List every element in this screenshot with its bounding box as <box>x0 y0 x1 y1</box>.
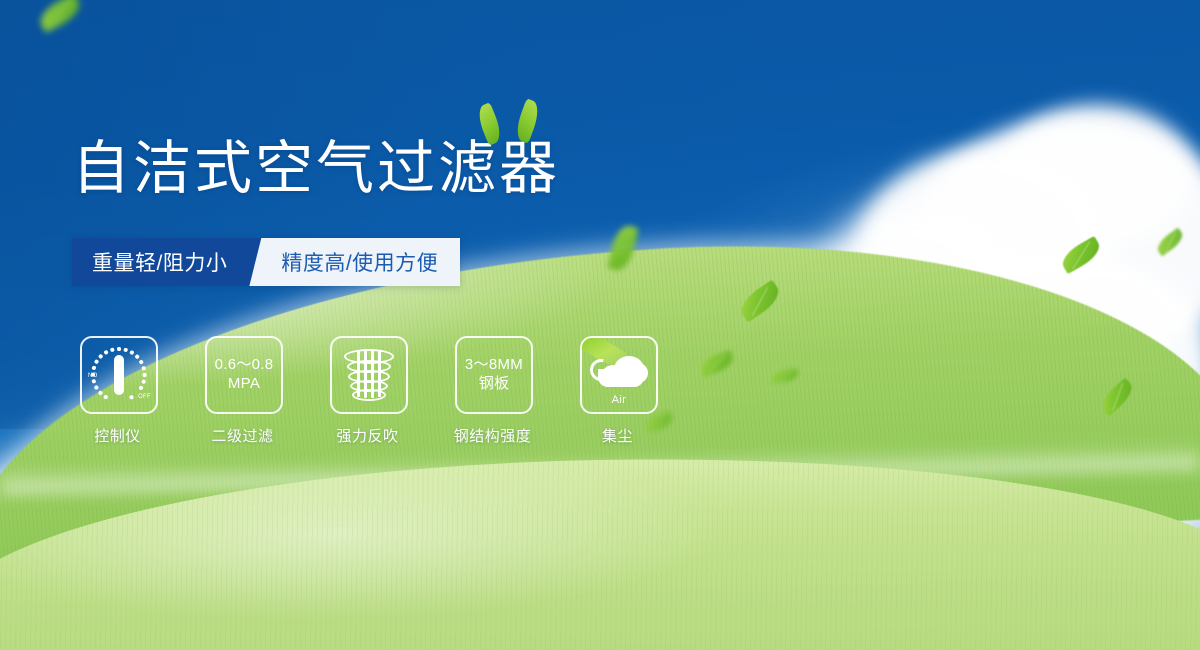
subtitle-divider <box>249 238 275 286</box>
filter-stack-icon <box>343 347 395 403</box>
feature-item-controller[interactable]: NO OFF 控制仪 <box>80 336 155 446</box>
feature-label: 集尘 <box>580 425 655 446</box>
gauge-needle-icon <box>114 355 124 395</box>
feature-label: 强力反吹 <box>330 425 405 446</box>
steel-plate-text-icon: 3～8MM 钢板 <box>465 356 523 394</box>
feature-icon-box: 0.6～0.8 MPA <box>205 336 283 414</box>
subtitle-right: 精度高/使用方便 <box>275 238 460 286</box>
pressure-value-line1: 0.6～0.8 <box>215 356 274 373</box>
feature-item-blowback[interactable]: 强力反吹 <box>330 336 405 446</box>
steel-value-line1: 3～8MM <box>465 356 523 373</box>
page-title: 自洁式空气过滤器 <box>72 140 560 198</box>
subtitle-left: 重量轻/阻力小 <box>72 238 249 286</box>
pressure-text-icon: 0.6～0.8 MPA <box>215 356 274 394</box>
feature-icon-box: Air <box>580 336 658 414</box>
air-label: Air <box>588 394 650 406</box>
feature-label: 钢结构强度 <box>441 425 544 446</box>
steel-value-line2: 钢板 <box>465 375 523 394</box>
subtitle-bar: 重量轻/阻力小 精度高/使用方便 <box>72 238 460 286</box>
feature-item-steel[interactable]: 3～8MM 钢板 钢结构强度 <box>455 336 530 446</box>
feature-list: NO OFF 控制仪 0.6～0.8 MPA 二级过滤 <box>80 336 655 446</box>
gauge-on-label: NO <box>88 373 98 379</box>
feature-label: 控制仪 <box>80 425 155 446</box>
air-cloud-icon: Air <box>588 347 650 403</box>
hero-banner: 自洁式空气过滤器 重量轻/阻力小 精度高/使用方便 <box>0 0 1200 650</box>
feature-item-pressure[interactable]: 0.6～0.8 MPA 二级过滤 <box>205 336 280 446</box>
feature-icon-box: NO OFF <box>80 336 158 414</box>
feature-icon-box: 3～8MM 钢板 <box>455 336 533 414</box>
feature-label: 二级过滤 <box>205 425 280 446</box>
title-block: 自洁式空气过滤器 <box>72 140 560 198</box>
pressure-value-line2: MPA <box>215 375 274 394</box>
gauge-icon: NO OFF <box>89 346 149 404</box>
gauge-off-label: OFF <box>138 394 151 400</box>
feature-item-dust[interactable]: Air 集尘 <box>580 336 655 446</box>
feature-icon-box <box>330 336 408 414</box>
